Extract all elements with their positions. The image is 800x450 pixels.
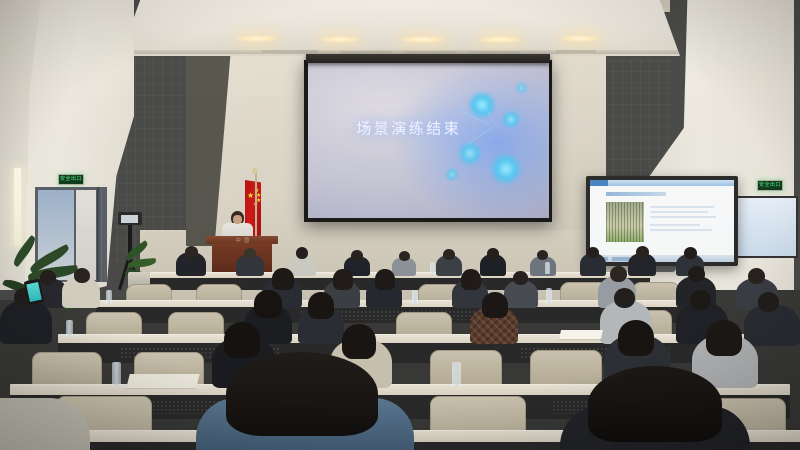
attendee-head xyxy=(610,266,627,282)
attendee-foreground-right-hair xyxy=(588,366,722,442)
attendee-hair xyxy=(482,292,508,318)
attendee-head xyxy=(614,288,635,308)
slide-glow-node-3 xyxy=(457,141,483,166)
projection-screen[interactable]: 场景演练结束 xyxy=(304,60,552,222)
attendee-hair xyxy=(375,269,395,290)
attendee-hair xyxy=(308,292,334,319)
notebook xyxy=(126,374,199,388)
water-bottle xyxy=(66,320,73,337)
chair[interactable] xyxy=(430,350,502,386)
monitor-image-thumbnail xyxy=(606,202,644,242)
attendee-head xyxy=(40,270,56,285)
downlight-5 xyxy=(560,35,600,42)
camera-screen xyxy=(121,215,138,223)
speaker-face xyxy=(233,215,242,224)
exit-sign-left: 安全出口 xyxy=(58,174,84,185)
ceiling-slot-1 xyxy=(262,50,318,53)
exit-sign-left-text: 安全出口 xyxy=(60,177,82,182)
water-bottle xyxy=(412,290,418,304)
attendee-head xyxy=(443,249,455,260)
lecture-hall-scene: 场景演练结束 ★ ★ ★ ★ ★ 中 国 安全出口 安全出口 xyxy=(0,0,800,450)
wall-sconce-light xyxy=(14,168,21,246)
downlight-3 xyxy=(400,36,446,43)
downlight-2 xyxy=(320,36,360,43)
slide-glow-node-5 xyxy=(445,168,459,181)
attendee-hair xyxy=(254,290,282,318)
slide-network-line-2 xyxy=(467,127,492,145)
attendee-hair xyxy=(706,320,742,356)
attendee-head xyxy=(684,247,697,259)
monitor-taskbar-item-2[interactable] xyxy=(612,257,630,261)
downlight-4 xyxy=(478,36,522,43)
projector-screen-housing xyxy=(306,54,550,63)
attendee-hair xyxy=(224,322,260,358)
ceiling-slot-5 xyxy=(556,50,596,53)
attendee-head xyxy=(244,248,256,259)
downlight-1 xyxy=(236,35,278,42)
attendee-head xyxy=(748,268,765,284)
exit-sign-right: 安全出口 xyxy=(757,180,783,191)
water-bottle xyxy=(546,288,552,303)
attendee-head xyxy=(185,246,198,258)
slide-glow-node-2 xyxy=(501,110,521,129)
monitor-text-line-4 xyxy=(650,224,700,226)
monitor-text-line-2 xyxy=(650,211,708,213)
slide-glow-node-6 xyxy=(515,82,528,94)
monitor-text-line-1 xyxy=(650,206,714,208)
chair[interactable] xyxy=(32,352,102,386)
water-bottle xyxy=(106,290,112,304)
attendee-head xyxy=(690,290,711,310)
attendee-head xyxy=(296,247,308,259)
water-bottle xyxy=(430,262,435,274)
monitor-window-menu xyxy=(590,180,608,186)
slide-title-text: 场景演练结束 xyxy=(356,118,461,139)
attendee-hair xyxy=(272,268,294,290)
attendee-head xyxy=(758,292,779,312)
water-bottle xyxy=(452,362,461,386)
water-bottle xyxy=(545,262,550,274)
attendee-foreground-hair xyxy=(226,352,378,436)
wall-monitor[interactable] xyxy=(586,176,738,266)
attendee-hair xyxy=(461,269,481,290)
attendee-head xyxy=(537,250,548,260)
flag-pole-finial xyxy=(252,168,258,174)
attendee-head xyxy=(487,248,499,259)
attendee-head xyxy=(636,246,649,258)
attendee-hair xyxy=(618,320,654,356)
monitor-text-line-5 xyxy=(650,229,712,231)
projection-screen-surface: 场景演练结束 xyxy=(308,63,549,218)
attendee-head xyxy=(351,250,363,261)
attendee-head xyxy=(74,268,90,283)
attendee-head xyxy=(513,271,528,285)
chair[interactable] xyxy=(530,350,602,386)
water-bottle xyxy=(112,362,121,386)
monitor-document-heading xyxy=(606,192,666,196)
monitor-screen xyxy=(590,180,734,262)
attendee-hair xyxy=(333,269,353,290)
ceiling-soffit xyxy=(120,0,680,56)
podium-engraving: 中 国 xyxy=(218,237,268,244)
attendee-head xyxy=(587,247,599,258)
monitor-window-titlebar xyxy=(590,180,734,186)
attendee-hair xyxy=(342,324,376,359)
attendee-head xyxy=(399,251,410,261)
paper-sheet xyxy=(559,330,603,339)
attendee-head xyxy=(688,266,705,282)
slide-glow-node-4 xyxy=(489,153,523,185)
plant-leaf xyxy=(128,258,156,268)
exit-sign-right-text: 安全出口 xyxy=(759,183,781,188)
monitor-text-line-3 xyxy=(650,216,716,218)
